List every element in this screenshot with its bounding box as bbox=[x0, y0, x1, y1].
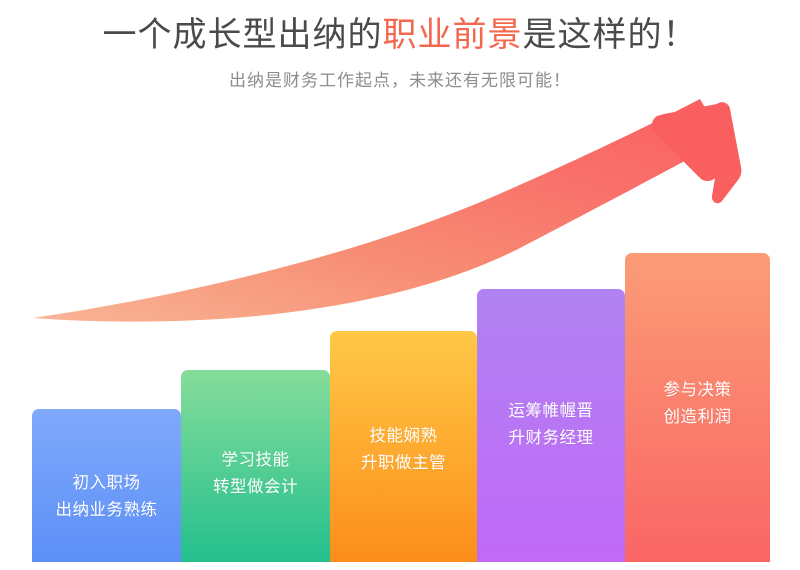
stage-bar-2[interactable]: 学习技能 转型做会计 bbox=[181, 370, 330, 562]
stage-bar-4-line1: 运筹帷幄晋 bbox=[509, 398, 594, 425]
stage-bar-1-line2: 出纳业务熟练 bbox=[56, 497, 158, 524]
stage-bar-4[interactable]: 运筹帷幄晋 升财务经理 bbox=[477, 289, 625, 562]
career-growth-infographic: 一个成长型出纳的职业前景是这样的！ 出纳是财务工作起点，未来还有无限可能！ 初入… bbox=[0, 0, 800, 570]
stage-bar-5[interactable]: 参与决策 创造利润 bbox=[625, 253, 770, 562]
stage-bar-3[interactable]: 技能娴熟 升职做主管 bbox=[330, 331, 477, 562]
stage-bar-1-line1: 初入职场 bbox=[73, 470, 141, 497]
stage-bar-5-line2: 创造利润 bbox=[664, 404, 732, 431]
stage-bar-4-labels: 运筹帷幄晋 升财务经理 bbox=[509, 398, 594, 452]
stage-bar-2-labels: 学习技能 转型做会计 bbox=[213, 447, 298, 501]
stage-bar-2-line1: 学习技能 bbox=[222, 447, 290, 474]
stage-bar-1-labels: 初入职场 出纳业务熟练 bbox=[56, 470, 158, 524]
stage-bar-2-line2: 转型做会计 bbox=[213, 474, 298, 501]
stage-bar-3-line2: 升职做主管 bbox=[361, 450, 446, 477]
stage-bar-1[interactable]: 初入职场 出纳业务熟练 bbox=[32, 409, 181, 562]
stage-bar-chart: 初入职场 出纳业务熟练 学习技能 转型做会计 技能娴熟 升职做主管 运筹帷幄晋 … bbox=[0, 0, 800, 570]
stage-bar-3-labels: 技能娴熟 升职做主管 bbox=[361, 423, 446, 477]
stage-bar-3-line1: 技能娴熟 bbox=[370, 423, 438, 450]
stage-bar-5-line1: 参与决策 bbox=[664, 377, 732, 404]
stage-bar-5-labels: 参与决策 创造利润 bbox=[664, 377, 732, 431]
stage-bar-4-line2: 升财务经理 bbox=[509, 425, 594, 452]
